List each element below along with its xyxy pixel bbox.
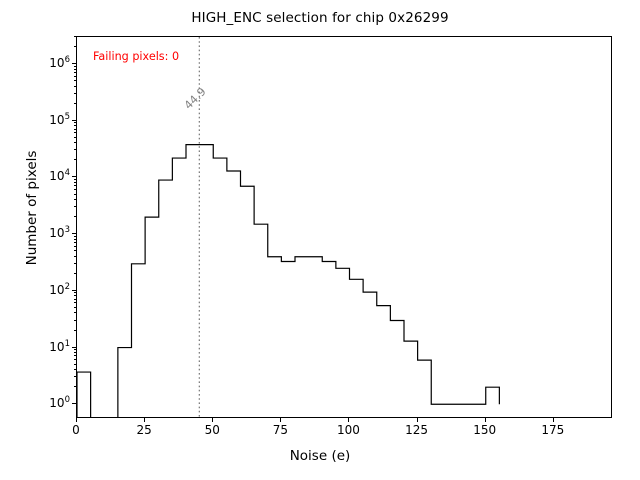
plot-axes: Failing pixels: 0 44.9: [76, 36, 612, 418]
y-tick-mark-minor: [74, 182, 76, 183]
y-tick-label: 100: [49, 396, 70, 410]
y-tick-mark-minor: [74, 364, 76, 365]
y-tick-mark-minor: [74, 199, 76, 200]
y-tick-mark-minor: [74, 216, 76, 217]
y-tick-mark-major: [72, 403, 76, 404]
y-tick-mark-minor: [74, 66, 76, 67]
chart-title: HIGH_ENC selection for chip 0x26299: [0, 10, 640, 26]
x-tick-mark: [553, 418, 554, 422]
y-tick-mark-minor: [74, 295, 76, 296]
y-tick-mark-minor: [74, 149, 76, 150]
y-tick-mark-major: [72, 233, 76, 234]
y-tick-mark-minor: [74, 103, 76, 104]
y-tick-mark-minor: [74, 312, 76, 313]
y-axis-label: Number of pixels: [24, 108, 40, 308]
histogram-step-line: [77, 145, 499, 418]
y-tick-mark-minor: [74, 125, 76, 126]
x-tick-label: 150: [473, 423, 496, 437]
matplotlib-figure: HIGH_ENC selection for chip 0x26299 Fail…: [0, 0, 640, 480]
y-tick-mark-minor: [74, 236, 76, 237]
x-tick-label: 175: [541, 423, 564, 437]
y-tick-mark-minor: [74, 86, 76, 87]
x-tick-label: 50: [205, 423, 220, 437]
y-tick-mark-minor: [74, 80, 76, 81]
y-tick-mark-minor: [74, 137, 76, 138]
y-tick-mark-major: [72, 63, 76, 64]
y-tick-label: 103: [49, 226, 70, 240]
y-tick-mark-minor: [74, 185, 76, 186]
y-tick-mark-minor: [74, 246, 76, 247]
y-tick-mark-minor: [74, 355, 76, 356]
y-tick-mark-minor: [74, 206, 76, 207]
x-tick-label: 100: [337, 423, 360, 437]
y-tick-mark-major: [72, 290, 76, 291]
y-tick-mark-minor: [74, 129, 76, 130]
y-tick-mark-major: [72, 120, 76, 121]
y-tick-label: 102: [49, 283, 70, 297]
y-tick-mark-minor: [74, 292, 76, 293]
y-tick-mark-minor: [74, 159, 76, 160]
y-tick-mark-minor: [74, 386, 76, 387]
y-tick-mark-minor: [74, 349, 76, 350]
y-tick-mark-minor: [74, 376, 76, 377]
y-tick-mark-minor: [74, 122, 76, 123]
y-tick-mark-minor: [74, 320, 76, 321]
x-tick-mark: [417, 418, 418, 422]
y-tick-label: 105: [49, 113, 70, 127]
y-tick-label: 106: [49, 56, 70, 70]
x-tick-mark: [76, 418, 77, 422]
y-tick-mark-major: [72, 176, 76, 177]
y-tick-mark-minor: [74, 369, 76, 370]
y-tick-mark-minor: [74, 273, 76, 274]
x-tick-mark: [144, 418, 145, 422]
x-axis-label: Noise (e): [0, 448, 640, 464]
y-tick-mark-minor: [74, 76, 76, 77]
x-tick-mark: [348, 418, 349, 422]
histogram-plot: [77, 37, 612, 418]
y-tick-mark-minor: [74, 263, 76, 264]
y-tick-label: 104: [49, 169, 70, 183]
y-tick-mark-minor: [74, 256, 76, 257]
y-tick-mark-minor: [74, 359, 76, 360]
y-tick-mark-minor: [74, 142, 76, 143]
y-tick-mark-minor: [74, 69, 76, 70]
y-tick-mark-minor: [74, 299, 76, 300]
y-tick-mark-minor: [74, 302, 76, 303]
y-tick-mark-minor: [74, 352, 76, 353]
x-tick-mark: [485, 418, 486, 422]
y-tick-mark-major: [72, 347, 76, 348]
x-tick-mark: [212, 418, 213, 422]
failing-pixels-annotation: Failing pixels: 0: [93, 50, 179, 63]
y-tick-mark-minor: [74, 132, 76, 133]
y-tick-mark-minor: [74, 307, 76, 308]
y-tick-mark-minor: [74, 242, 76, 243]
x-tick-label: 75: [273, 423, 288, 437]
y-tick-mark-minor: [74, 46, 76, 47]
x-tick-label: 25: [136, 423, 151, 437]
y-tick-mark-minor: [74, 72, 76, 73]
y-tick-mark-minor: [74, 189, 76, 190]
y-tick-mark-minor: [74, 194, 76, 195]
y-tick-mark-minor: [74, 36, 76, 37]
y-tick-mark-minor: [74, 179, 76, 180]
y-tick-label: 101: [49, 340, 70, 354]
y-tick-mark-minor: [74, 330, 76, 331]
y-tick-mark-minor: [74, 239, 76, 240]
y-tick-mark-minor: [74, 93, 76, 94]
x-tick-mark: [280, 418, 281, 422]
y-tick-mark-minor: [74, 250, 76, 251]
x-tick-label: 0: [72, 423, 80, 437]
x-tick-label: 125: [405, 423, 428, 437]
